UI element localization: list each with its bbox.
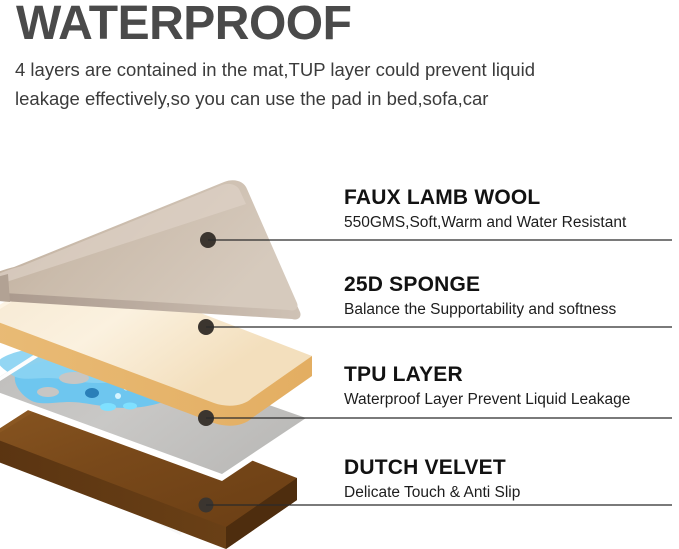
page-subtitle-line-2: leakage effectively,so you can use the p… — [15, 84, 665, 113]
callout-description: Balance the Supportability and softness — [344, 299, 679, 320]
callout-faux-lamb-wool: FAUX LAMB WOOL 550GMS,Soft,Warm and Wate… — [344, 185, 679, 233]
callout-title: DUTCH VELVET — [344, 455, 679, 480]
infographic-page: WATERPROOF 4 layers are contained in the… — [0, 0, 679, 549]
callout-dot-tpu-layer — [198, 410, 214, 426]
layer-faux-lamb-wool — [0, 180, 301, 319]
callout-title: 25D SPONGE — [344, 272, 679, 297]
callout-25d-sponge: 25D SPONGE Balance the Supportability an… — [344, 272, 679, 320]
exploded-layer-diagram — [0, 140, 340, 549]
page-subtitle-line-1: 4 layers are contained in the mat,TUP la… — [15, 55, 665, 84]
callout-description: 550GMS,Soft,Warm and Water Resistant — [344, 212, 679, 233]
callout-dot-faux-lamb-wool — [200, 232, 216, 248]
callout-description: Waterproof Layer Prevent Liquid Leakage — [344, 389, 679, 410]
callout-title: FAUX LAMB WOOL — [344, 185, 679, 210]
callout-description: Delicate Touch & Anti Slip — [344, 482, 679, 503]
callout-dot-25d-sponge — [198, 319, 214, 335]
header-block: WATERPROOF 4 layers are contained in the… — [0, 0, 679, 140]
page-subtitle: 4 layers are contained in the mat,TUP la… — [15, 55, 665, 113]
page-title: WATERPROOF — [16, 0, 351, 50]
callout-dot-dutch-velvet — [199, 498, 214, 513]
callout-dutch-velvet: DUTCH VELVET Delicate Touch & Anti Slip — [344, 455, 679, 503]
callout-title: TPU LAYER — [344, 362, 679, 387]
callout-tpu-layer: TPU LAYER Waterproof Layer Prevent Liqui… — [344, 362, 679, 410]
